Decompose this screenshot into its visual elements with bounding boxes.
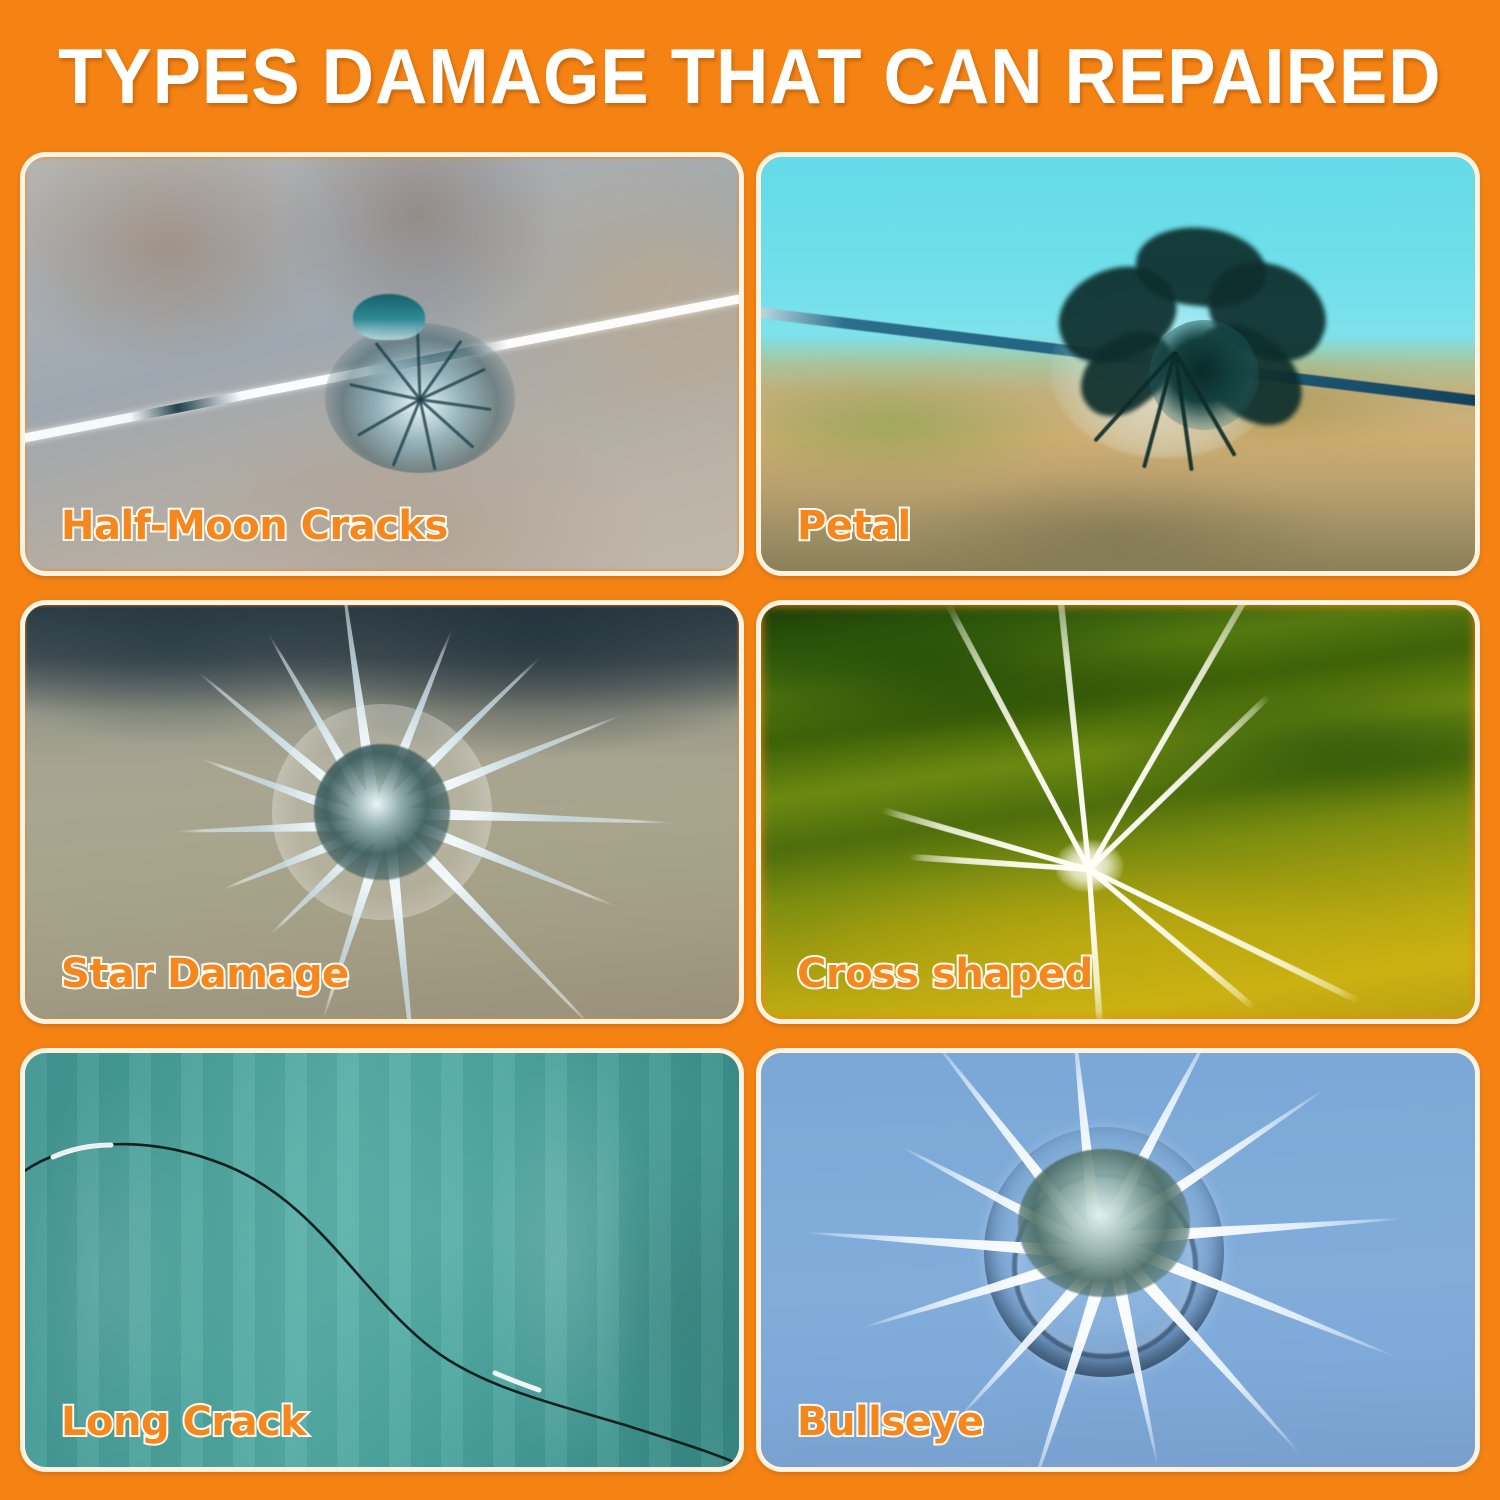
card-caption: Half-Moon Cracks <box>61 503 448 549</box>
card-caption: Bullseye <box>797 1399 984 1445</box>
card-caption: Cross shaped <box>797 951 1093 997</box>
card-caption: Petal <box>797 503 911 549</box>
damage-card-half-moon-cracks[interactable]: Half-Moon Cracks <box>20 152 744 576</box>
damage-type-grid: Half-Moon Cracks Petal <box>0 152 1500 1500</box>
impact-core <box>1055 840 1123 892</box>
damage-card-star-damage[interactable]: Star Damage <box>20 600 744 1024</box>
impact-core <box>314 744 450 880</box>
card-caption: Star Damage <box>61 951 349 997</box>
impact-core <box>1018 1149 1190 1297</box>
damage-card-cross-shaped[interactable]: Cross shaped <box>756 600 1480 1024</box>
damage-card-long-crack[interactable]: Long Crack <box>20 1048 744 1472</box>
damage-card-bullseye[interactable]: Bullseye <box>756 1048 1480 1472</box>
card-caption: Long Crack <box>61 1399 306 1445</box>
header-banner: TYPES DAMAGE THAT CAN REPAIRED <box>0 0 1500 152</box>
impact-chip <box>1004 223 1334 453</box>
page-title: TYPES DAMAGE THAT CAN REPAIRED <box>58 31 1441 122</box>
damage-card-petal[interactable]: Petal <box>756 152 1480 576</box>
impact-core <box>1149 320 1259 430</box>
chip-dome <box>353 294 425 340</box>
impact-chip <box>325 323 515 473</box>
